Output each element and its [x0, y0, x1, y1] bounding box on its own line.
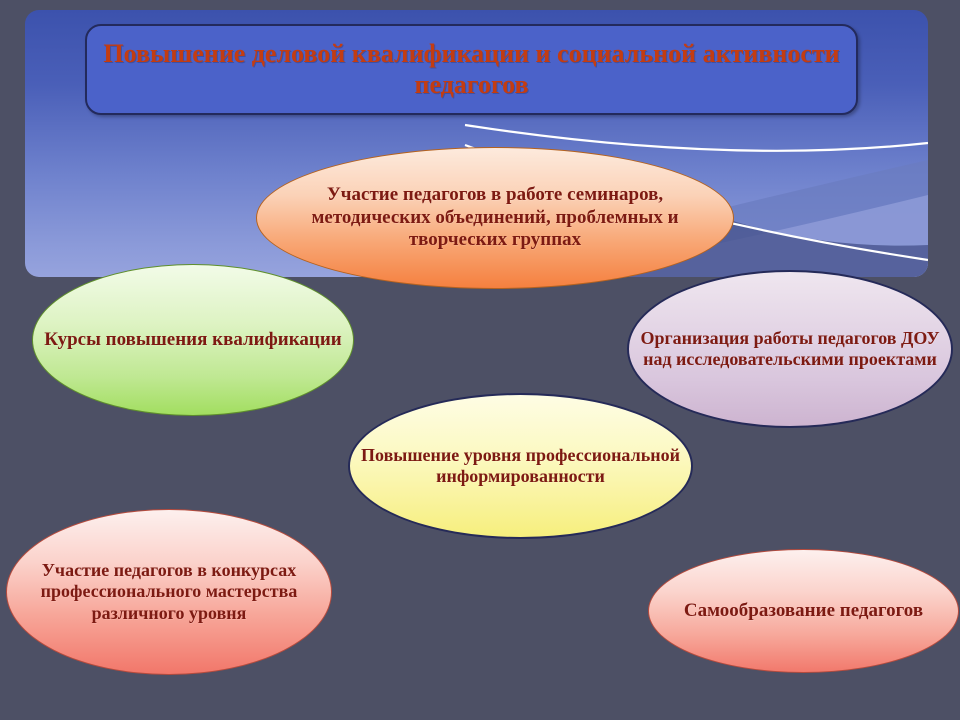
node-contests[interactable]: Участие педагогов в конкурсах профессион… [6, 509, 332, 675]
slide-title-box: Повышение деловой квалификации и социаль… [85, 24, 858, 115]
node-courses[interactable]: Курсы повышения квалификации [32, 264, 354, 416]
node-professional-awareness-label: Повышение уровня профессиональной информ… [350, 445, 691, 487]
node-courses-label: Курсы повышения квалификации [34, 329, 351, 351]
node-research-projects[interactable]: Организация работы педагогов ДОУ над исс… [627, 270, 953, 428]
node-self-education-label: Самообразование педагогов [674, 600, 933, 622]
page-title: Повышение деловой квалификации и социаль… [102, 39, 840, 99]
node-research-projects-label: Организация работы педагогов ДОУ над исс… [629, 328, 951, 370]
node-seminars-label: Участие педагогов в работе семинаров, ме… [257, 184, 733, 251]
node-seminars[interactable]: Участие педагогов в работе семинаров, ме… [256, 147, 734, 289]
node-self-education[interactable]: Самообразование педагогов [648, 549, 959, 673]
slide-canvas: Повышение деловой квалификации и социаль… [0, 0, 960, 720]
node-professional-awareness[interactable]: Повышение уровня профессиональной информ… [348, 393, 693, 539]
node-contests-label: Участие педагогов в конкурсах профессион… [7, 560, 331, 624]
